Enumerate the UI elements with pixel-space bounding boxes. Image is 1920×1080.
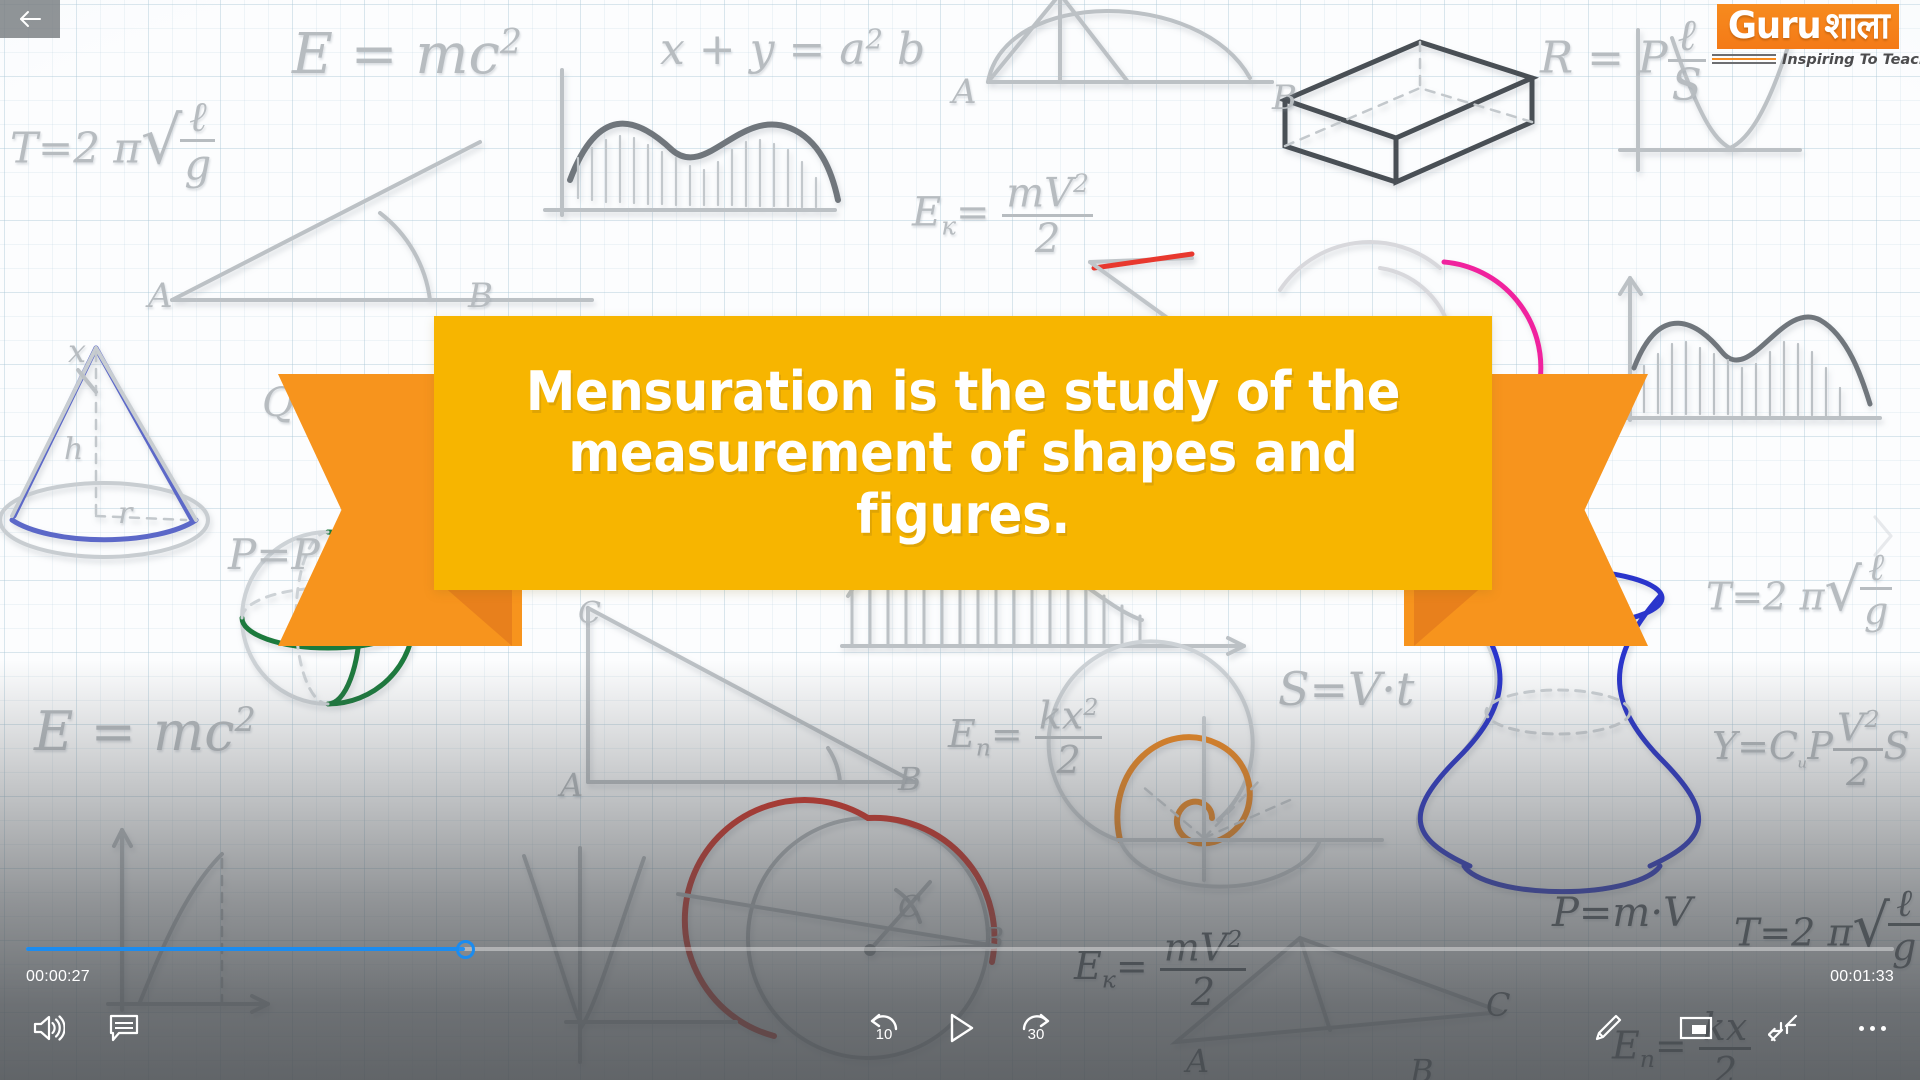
- label-B-triangle: B: [898, 760, 922, 798]
- forward-30-icon: [1016, 1010, 1056, 1046]
- formula-en-kx2: En= kx22: [948, 696, 1102, 779]
- brand-logo: Guruशाला Inspiring To Teach: [1710, 4, 1906, 68]
- exit-fullscreen-icon: [1768, 1012, 1800, 1044]
- formula-emc2-top: E = mc2: [292, 22, 522, 87]
- progress-thumb[interactable]: [456, 940, 475, 959]
- play-button[interactable]: [934, 1002, 986, 1054]
- player-controls: 00:00:27 00:01:33: [0, 920, 1920, 1080]
- next-slide-button[interactable]: [1854, 500, 1910, 572]
- logo-rule-lines: [1712, 54, 1776, 66]
- formula-ek-top: Eк= mV22: [912, 172, 1093, 259]
- more-options-icon: [1859, 1026, 1886, 1031]
- progress-scrubber[interactable]: [26, 947, 1894, 951]
- label-A-triangle: A: [560, 766, 583, 804]
- chevron-right-icon: [1867, 511, 1897, 561]
- formula-y-cup: Y=CᵤPV22S: [1712, 708, 1909, 791]
- formula-emc2-left: E = mc2: [34, 700, 256, 763]
- subtitles-icon: [109, 1014, 139, 1042]
- logo-tagline-row: Inspiring To Teach: [1710, 52, 1906, 68]
- picture-in-picture-icon: [1679, 1015, 1713, 1041]
- formula-pendulum-top-left: T=2 π√ℓg: [10, 96, 215, 186]
- more-options-button[interactable]: [1846, 1002, 1898, 1054]
- formula-xy-a2b: x + y = a2 b: [660, 24, 925, 75]
- forward-30-button[interactable]: 30: [1010, 1002, 1062, 1054]
- picture-in-picture-button[interactable]: [1670, 1002, 1722, 1054]
- exit-fullscreen-button[interactable]: [1758, 1002, 1810, 1054]
- volume-button[interactable]: [22, 1002, 74, 1054]
- logo-wordmark-en: Guru: [1728, 7, 1821, 44]
- progress-row: [26, 938, 1894, 960]
- progress-fill: [26, 947, 465, 951]
- label-B-dome: B: [1272, 78, 1297, 118]
- label-r-cone: r: [118, 496, 132, 531]
- left-controls: [22, 1002, 150, 1054]
- right-controls: [1582, 1002, 1898, 1054]
- headline-banner: Mensuration is the study of the measurem…: [434, 316, 1492, 590]
- volume-icon: [31, 1013, 65, 1043]
- draw-button[interactable]: [1582, 1002, 1634, 1054]
- play-icon: [943, 1010, 977, 1046]
- pencil-icon: [1592, 1012, 1624, 1044]
- formula-r-pes: R = PℓS: [1540, 14, 1706, 108]
- label-B-top-left: B: [468, 276, 493, 316]
- formula-svt: S=V·t: [1278, 662, 1414, 716]
- logo-wordmark-hi: शाला: [1824, 7, 1888, 44]
- total-time: 00:01:33: [1830, 968, 1894, 986]
- subtitles-button[interactable]: [98, 1002, 150, 1054]
- center-controls: 10 30: [858, 1002, 1062, 1054]
- label-A-top-left: A: [148, 276, 173, 316]
- label-h-cone: h: [64, 432, 83, 467]
- current-time: 00:00:27: [26, 968, 90, 986]
- rewind-10-button[interactable]: 10: [858, 1002, 910, 1054]
- logo-box: Guruशाला: [1717, 4, 1899, 49]
- back-button[interactable]: [0, 0, 60, 38]
- logo-tagline: Inspiring To Teach: [1782, 52, 1920, 68]
- headline-text: Mensuration is the study of the measurem…: [476, 361, 1449, 546]
- headline-ribbon: Mensuration is the study of the measurem…: [278, 316, 1648, 646]
- control-button-row: 10 30: [0, 1002, 1920, 1064]
- video-player-stage: E = mc2 x + y = a2 b T=2 π√ℓg Eк= mV22 R…: [0, 0, 1920, 1080]
- arrow-left-icon: [17, 9, 43, 29]
- label-A-dome: A: [952, 72, 977, 112]
- label-x-cone: x: [68, 332, 86, 370]
- rewind-10-icon: [864, 1010, 904, 1046]
